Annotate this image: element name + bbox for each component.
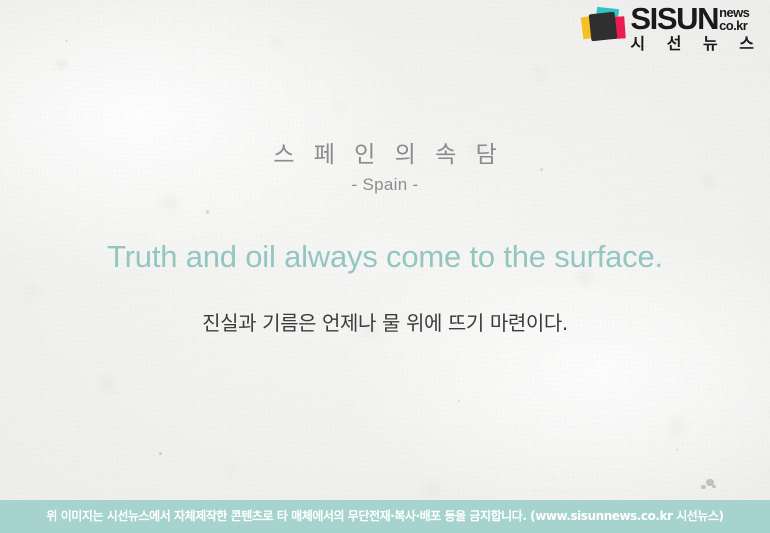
logo-domain-cokr: co.kr: [719, 19, 749, 32]
paper-speck: [712, 485, 716, 488]
quote-korean-translation: 진실과 기름은 언제나 물 위에 뜨기 마련이다.: [0, 309, 770, 337]
proverb-content: 스 페 인 의 속 담 - Spain - Truth and oil alwa…: [0, 140, 770, 337]
logo-brand-name: SISUN: [630, 4, 718, 33]
copyright-footer-bar: 위 이미지는 시선뉴스에서 자체제작한 콘텐츠로 타 매체에서의 무단전재·복사…: [0, 500, 770, 533]
logo-wordmark: SISUN news co.kr 시 선 뉴 스: [630, 4, 764, 54]
quote-english: Truth and oil always come to the surface…: [0, 238, 770, 276]
paper-speck: [458, 400, 460, 402]
sisun-news-logo[interactable]: SISUN news co.kr 시 선 뉴 스: [581, 4, 764, 58]
logo-wordmark-row: SISUN news co.kr: [630, 4, 764, 33]
paper-speck: [676, 449, 678, 451]
paper-speck: [701, 485, 706, 489]
paper-speck: [159, 452, 162, 455]
logo-brand-korean: 시 선 뉴 스: [630, 34, 764, 54]
copyright-notice: 위 이미지는 시선뉴스에서 자체제작한 콘텐츠로 타 매체에서의 무단전재·복사…: [46, 500, 723, 533]
logo-mark-icon: [581, 7, 627, 47]
logo-domain-stack: news co.kr: [719, 6, 749, 32]
proverb-country-label: - Spain -: [0, 173, 770, 197]
proverb-title: 스 페 인 의 속 담: [0, 140, 770, 170]
proverb-card: SISUN news co.kr 시 선 뉴 스 스 페 인 의 속 담 - S…: [0, 0, 770, 533]
logo-square-dark: [589, 12, 618, 42]
paper-speck: [65, 40, 68, 42]
